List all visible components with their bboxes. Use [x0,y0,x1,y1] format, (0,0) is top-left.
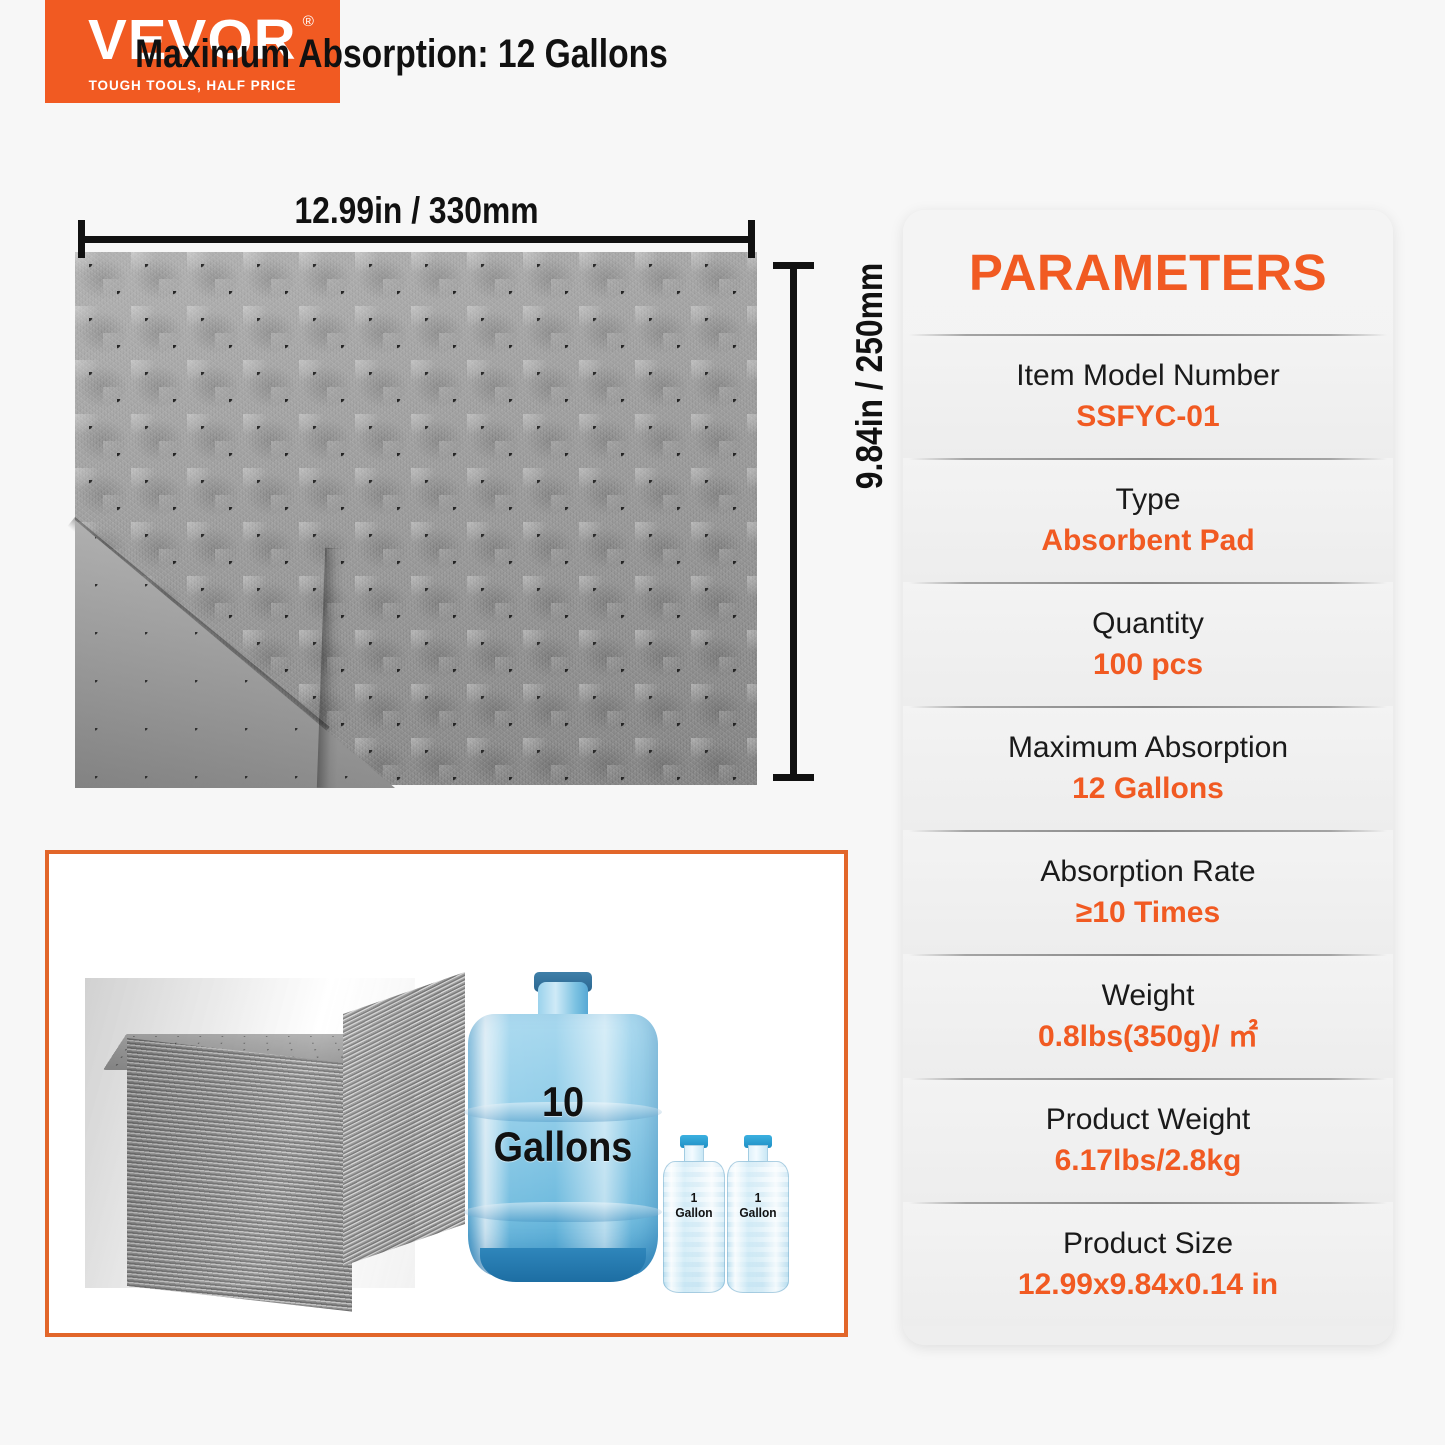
parameter-value: 12.99x9.84x0.14 in [1018,1267,1278,1303]
parameter-value: 12 Gallons [1072,771,1224,807]
parameters-title: PARAMETERS [903,210,1393,334]
parameter-label: Product Size [1063,1226,1233,1262]
registered-trademark-icon: ® [303,14,315,29]
one-gallon-bottle-label: 1 Gallon [729,1191,786,1220]
ten-gallon-bottle: 10 Gallons [468,972,658,1290]
bottle-label-line1: 10 [478,1080,649,1125]
dimension-label-width: 12.99in / 330mm [125,190,707,232]
parameter-row-product-size: Product Size 12.99x9.84x0.14 in [903,1202,1393,1326]
parameter-label: Quantity [1092,606,1204,642]
parameter-row-absorption-rate: Absorption Rate ≥10 Times [903,830,1393,954]
parameter-row-item-model-number: Item Model Number SSFYC-01 [903,334,1393,458]
one-gallon-bottle: 1 Gallon [727,1135,789,1293]
parameter-row-type: Type Absorbent Pad [903,458,1393,582]
parameter-label: Product Weight [1046,1102,1251,1138]
pad-stack-side-face [343,972,465,1266]
bottle-body [663,1161,725,1293]
parameter-label: Absorption Rate [1040,854,1255,890]
parameter-label: Item Model Number [1016,358,1279,394]
parameter-value: SSFYC-01 [1076,399,1219,435]
dimension-line-height [790,262,797,781]
bottle-label-line2: Gallons [478,1125,649,1170]
parameter-label: Type [1115,482,1180,518]
bottle-ring [464,1202,662,1222]
dimension-cap-bottom [773,774,814,781]
ten-gallon-bottle-label: 10 Gallons [478,1080,649,1169]
parameter-value: 6.17lbs/2.8kg [1055,1143,1242,1179]
dimension-cap-right [748,220,755,258]
bottle-body [727,1161,789,1293]
parameter-value: ≥10 Times [1076,895,1220,931]
parameter-value: Absorbent Pad [1041,523,1254,559]
bottle-label-line1: 1 [729,1191,786,1206]
parameter-label: Maximum Absorption [1008,730,1288,766]
parameter-value: 0.8lbs(350g)/ ㎡ [1038,1019,1258,1055]
bottle-label-line2: Gallon [729,1206,786,1221]
parameter-row-weight: Weight 0.8lbs(350g)/ ㎡ [903,954,1393,1078]
pad-stack-illustration [85,978,415,1288]
parameter-row-quantity: Quantity 100 pcs [903,582,1393,706]
absorption-callout-title: Maximum Absorption: 12 Gallons [64,32,739,77]
absorbent-pad-photo [75,252,757,785]
parameter-label: Weight [1102,978,1195,1014]
dimension-label-height: 9.84in / 250mm [849,230,891,522]
dimension-line-width [78,236,755,243]
bottle-base [480,1248,646,1282]
pad-stack-front-face [127,1038,352,1312]
parameter-row-product-weight: Product Weight 6.17lbs/2.8kg [903,1078,1393,1202]
parameters-panel: PARAMETERS Item Model Number SSFYC-01 Ty… [903,210,1393,1345]
bottle-label-line1: 1 [665,1191,722,1206]
logo-tagline: TOUGH TOOLS, HALF PRICE [89,78,297,93]
one-gallon-bottle-label: 1 Gallon [665,1191,722,1220]
parameter-value: 100 pcs [1093,647,1203,683]
parameter-row-maximum-absorption: Maximum Absorption 12 Gallons [903,706,1393,830]
one-gallon-bottle: 1 Gallon [663,1135,725,1293]
bottle-label-line2: Gallon [665,1206,722,1221]
